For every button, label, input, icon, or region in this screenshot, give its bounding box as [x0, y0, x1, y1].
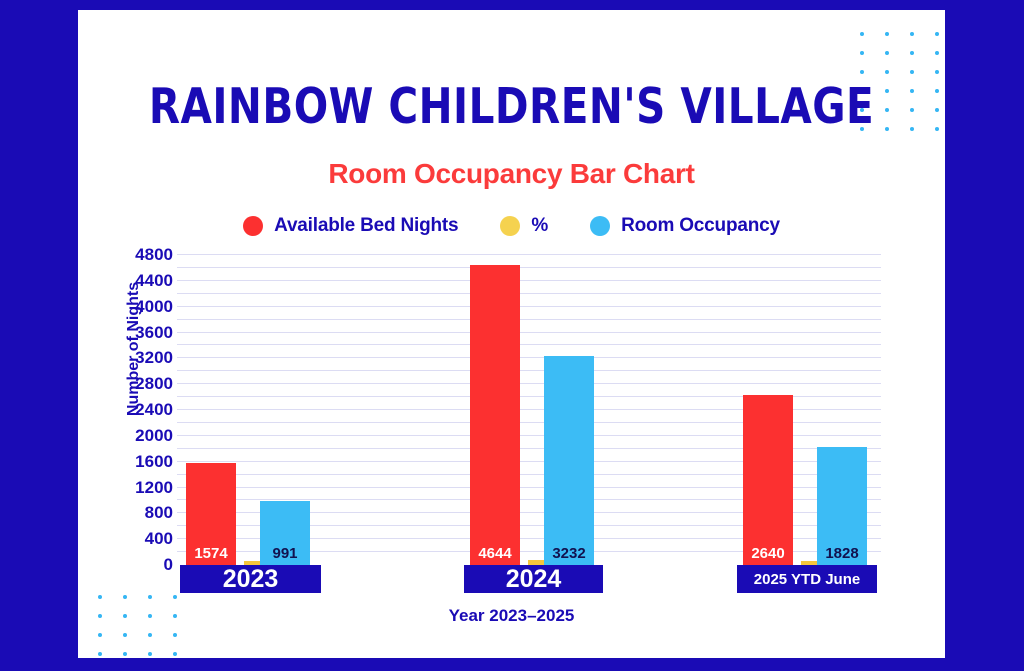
page-title: RAINBOW CHILDREN'S VILLAGE: [113, 78, 911, 135]
decorative-dot: [935, 89, 939, 93]
bar-room-occupancy[interactable]: 3232: [544, 356, 594, 565]
decorative-dot: [885, 32, 889, 36]
decorative-dot: [910, 70, 914, 74]
bar-value-label: 1574: [194, 546, 227, 565]
legend-label: Room Occupancy: [621, 215, 780, 237]
decorative-dot: [98, 633, 102, 637]
bar-value-label: 4644: [478, 546, 511, 565]
page-subtitle: Room Occupancy Bar Chart: [78, 158, 945, 190]
decorative-dot: [123, 595, 127, 599]
y-axis-tick-label: 400: [109, 529, 173, 549]
decorative-dot: [173, 595, 177, 599]
decorative-dot: [148, 652, 152, 656]
legend-item[interactable]: %: [500, 215, 548, 237]
legend-label: %: [531, 215, 548, 237]
decorative-dot: [910, 127, 914, 131]
legend-label: Available Bed Nights: [274, 215, 458, 237]
decorative-dot: [123, 652, 127, 656]
decorative-dot: [910, 51, 914, 55]
decorative-dot: [860, 32, 864, 36]
decorative-dot: [935, 70, 939, 74]
decorative-dot: [935, 32, 939, 36]
bar-value-label: 1828: [825, 546, 858, 565]
x-axis-title: Year 2023–2025: [78, 606, 945, 626]
bar-group: 2640691828: [737, 255, 877, 565]
category-label-band: 2025 YTD June: [737, 565, 877, 593]
legend-item[interactable]: Room Occupancy: [590, 215, 780, 237]
bar-value-label: 3232: [552, 546, 585, 565]
plot-area: 1574639912023464470323220242640691828202…: [177, 255, 881, 565]
decorative-dot: [910, 32, 914, 36]
y-axis-tick-label: 1200: [109, 478, 173, 498]
bar-group: 4644703232: [464, 255, 603, 565]
decorative-dot: [98, 595, 102, 599]
bar-room-occupancy[interactable]: 991: [260, 501, 310, 565]
bar-available-bed-nights[interactable]: 1574: [186, 463, 236, 565]
bar-room-occupancy[interactable]: 1828: [817, 447, 867, 565]
decorative-dot: [148, 633, 152, 637]
decorative-dot: [935, 108, 939, 112]
decorative-dot: [860, 51, 864, 55]
decorative-dot: [98, 652, 102, 656]
bar-value-label: 2640: [751, 546, 784, 565]
decorative-dot: [173, 652, 177, 656]
bar-group: 157463991: [180, 255, 321, 565]
legend-swatch-icon: [500, 216, 520, 236]
poster-frame: RAINBOW CHILDREN'S VILLAGE Room Occupanc…: [0, 0, 1024, 668]
legend-item[interactable]: Available Bed Nights: [243, 215, 458, 237]
category-label-band: 2023: [180, 565, 321, 593]
category-label-band: 2024: [464, 565, 603, 593]
decorative-dot: [885, 51, 889, 55]
decorative-dot: [935, 51, 939, 55]
decorative-dot: [148, 595, 152, 599]
decorative-dot: [910, 89, 914, 93]
chart-legend: Available Bed Nights%Room Occupancy: [78, 215, 945, 237]
decorative-dot: [910, 108, 914, 112]
y-axis-tick-label: 1600: [109, 452, 173, 472]
bar-available-bed-nights[interactable]: 2640: [743, 395, 793, 566]
bar-value-label: 991: [272, 546, 297, 565]
legend-swatch-icon: [590, 216, 610, 236]
decorative-dot: [123, 633, 127, 637]
y-axis-tick-label: 0: [109, 555, 173, 575]
decorative-dot: [860, 70, 864, 74]
decorative-dot: [885, 70, 889, 74]
legend-swatch-icon: [243, 216, 263, 236]
y-axis-tick-label: 800: [109, 503, 173, 523]
y-axis-title: Number of Nights: [125, 249, 143, 449]
decorative-dot: [173, 633, 177, 637]
chart-card: RAINBOW CHILDREN'S VILLAGE Room Occupanc…: [78, 10, 945, 658]
decorative-dot: [935, 127, 939, 131]
bar-available-bed-nights[interactable]: 4644: [470, 265, 520, 565]
